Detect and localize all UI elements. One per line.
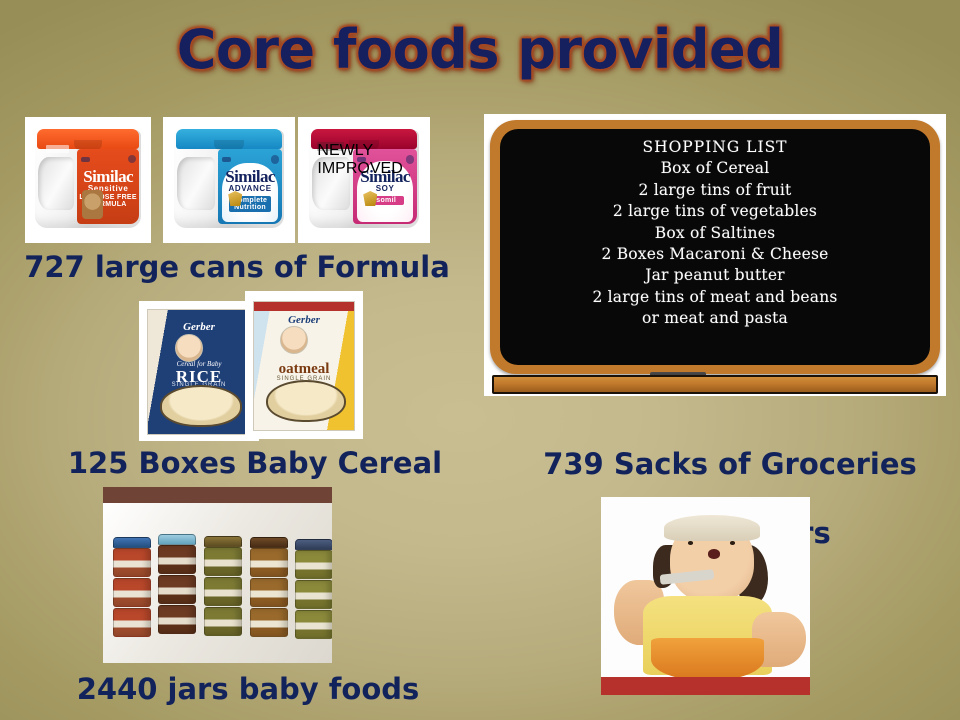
chalkboard-ledge	[492, 375, 938, 394]
baby-food-jars-photo	[103, 487, 332, 663]
shopping-list-chalkboard-photo: SHOPPING LIST Box of Cereal 2 large tins…	[484, 114, 946, 396]
jar-stack	[250, 537, 286, 638]
baby-food-jar	[295, 610, 332, 639]
shopping-list-item: 2 large tins of vegetables	[512, 201, 918, 222]
shopping-list-text: SHOPPING LIST Box of Cereal 2 large tins…	[512, 137, 918, 329]
formula-caption: 727 large cans of Formula	[22, 250, 452, 284]
formula-can-photo-1: Similac Sensitive LACTOSE FREE FORMULA	[25, 117, 151, 243]
cereal-box-rice: Gerber Cereal for Baby RICE SINGLE GRAIN	[147, 309, 251, 435]
baby-food-jar	[204, 577, 242, 606]
shopping-list-item: 2 large tins of meat and beans	[512, 287, 918, 308]
shopping-list-item: Box of Saltines	[512, 223, 918, 244]
gerber-baby-icon	[175, 334, 204, 363]
nutrition-seal-icon	[128, 155, 136, 163]
chalkboard-surface: SHOPPING LIST Box of Cereal 2 large tins…	[500, 129, 930, 365]
baby-food-jar	[295, 580, 332, 609]
teddy-bear-icon	[82, 190, 103, 220]
jar-lid	[113, 537, 151, 548]
baby-food-jar	[250, 578, 288, 607]
cereal-box-top-band	[254, 302, 354, 311]
shopping-list-item: or meat and pasta	[512, 308, 918, 329]
toddler-headband	[664, 515, 760, 541]
gerber-baby-icon	[280, 326, 308, 354]
chalkboard-wooden-frame: SHOPPING LIST Box of Cereal 2 large tins…	[490, 120, 940, 374]
baby-food-jar	[204, 547, 242, 576]
nutrition-seal-icon	[406, 155, 414, 163]
abbott-logo-icon	[81, 157, 90, 162]
baby-food-jar	[113, 548, 151, 577]
jar-stack	[113, 537, 149, 638]
baby-food-jar	[158, 575, 196, 604]
can-lid	[176, 129, 282, 150]
can-front-panel: Similac Sensitive LACTOSE FREE FORMULA	[77, 149, 138, 224]
abbott-logo-icon	[222, 157, 231, 162]
baby-food-jar	[250, 608, 288, 637]
toddler-eye-left	[688, 541, 693, 544]
orange-bowl	[651, 638, 764, 682]
cereal-box-photo-rice: Gerber Cereal for Baby RICE SINGLE GRAIN	[139, 301, 259, 441]
formula-can-photo-3: Similac SOY Isomil NEWLY IMPROVED	[298, 117, 430, 243]
cereal-box-oatmeal: Gerber oatmeal SINGLE GRAIN	[253, 301, 355, 431]
baby-food-jar	[295, 550, 332, 579]
baby-food-jar	[113, 578, 151, 607]
can-scoop-well	[38, 157, 74, 210]
can-variant-label: ADVANCE	[218, 184, 282, 193]
jar-lid	[158, 534, 196, 545]
jar-stack	[295, 539, 331, 640]
can-newly-improved-note: NEWLY IMPROVED	[317, 142, 344, 151]
cereal-bowl-image	[266, 380, 346, 422]
baby-food-jar	[250, 548, 288, 577]
jar-lid	[250, 537, 288, 548]
slide-canvas: Core foods provided Similac Sensitive LA…	[0, 0, 960, 720]
toddler-eating-photo	[601, 497, 810, 695]
baby-food-jar	[204, 607, 242, 636]
shopping-list-heading: SHOPPING LIST	[512, 137, 918, 158]
shopping-list-item: Box of Cereal	[512, 158, 918, 179]
jar-stack	[204, 536, 240, 637]
can-front-panel: Similac ADVANCE Complete Nutrition	[218, 149, 282, 224]
baby-food-jar	[113, 608, 151, 637]
groceries-caption-line1: 739 Sacks of Groceries	[520, 447, 940, 481]
jar-lid	[204, 536, 242, 547]
jar-stack	[158, 534, 194, 635]
cereal-box-photo-oatmeal: Gerber oatmeal SINGLE GRAIN	[245, 291, 363, 439]
jars-caption: 2440 jars baby foods	[48, 672, 448, 706]
can-variant-label: SOY	[353, 184, 417, 193]
cereal-bowl-image	[160, 385, 242, 426]
red-table-surface	[601, 677, 810, 695]
can-scoop-well	[177, 157, 215, 210]
cereal-brand-label: Gerber	[254, 314, 354, 326]
baby-food-jar	[158, 605, 196, 634]
toddler-eye-right	[730, 541, 735, 544]
cereal-brand-label: Gerber	[148, 321, 250, 333]
baby-food-jar	[158, 545, 196, 574]
toddler-open-mouth	[708, 549, 721, 559]
shopping-list-item: Jar peanut butter	[512, 265, 918, 286]
formula-can-photo-2: Similac ADVANCE Complete Nutrition	[163, 117, 295, 243]
cereal-caption: 125 Boxes Baby Cereal	[55, 446, 455, 480]
page-title: Core foods provided	[0, 18, 960, 81]
shopping-list-item: 2 large tins of fruit	[512, 180, 918, 201]
jar-lid	[295, 539, 332, 550]
shopping-list-item: 2 Boxes Macaroni & Cheese	[512, 244, 918, 265]
nutrition-seal-icon	[271, 155, 279, 163]
can-side-note	[46, 145, 69, 153]
